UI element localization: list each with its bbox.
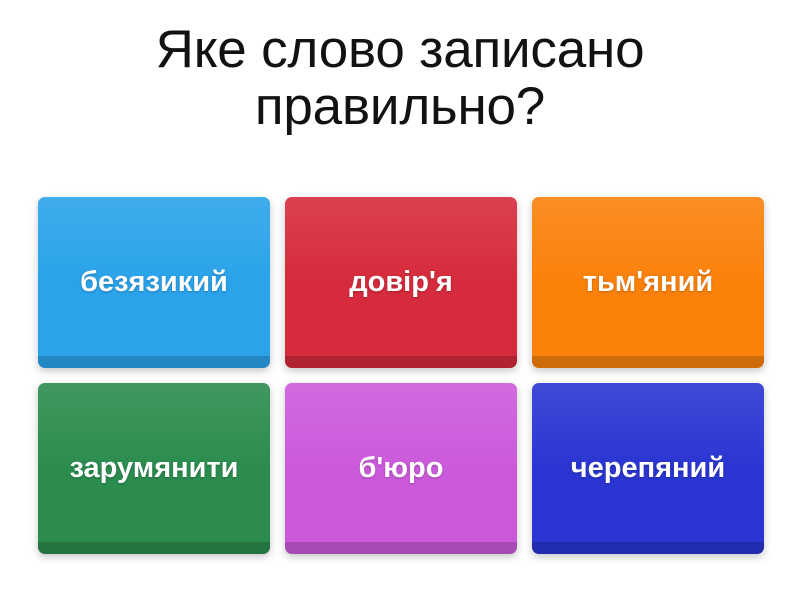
answer-options-grid: безязикий довір'я тьм'яний зарумянити б'…: [38, 197, 764, 554]
quiz-screen: Яке слово записано правильно? безязикий …: [0, 0, 800, 600]
answer-label-3: тьм'яний: [575, 267, 721, 299]
answer-tile-4[interactable]: зарумянити: [38, 383, 270, 554]
answer-tile-1[interactable]: безязикий: [38, 197, 270, 368]
answer-label-4: зарумянити: [62, 453, 247, 485]
answer-label-1: безязикий: [72, 267, 236, 299]
answer-label-5: б'юро: [350, 453, 451, 485]
answer-tile-2[interactable]: довір'я: [285, 197, 517, 368]
question-area: Яке слово записано правильно?: [30, 22, 770, 135]
answer-label-6: черепяний: [563, 453, 733, 485]
answer-tile-6[interactable]: черепяний: [532, 383, 764, 554]
answer-tile-3[interactable]: тьм'яний: [532, 197, 764, 368]
answer-tile-5[interactable]: б'юро: [285, 383, 517, 554]
question-text: Яке слово записано правильно?: [30, 22, 770, 135]
answer-label-2: довір'я: [341, 267, 461, 299]
